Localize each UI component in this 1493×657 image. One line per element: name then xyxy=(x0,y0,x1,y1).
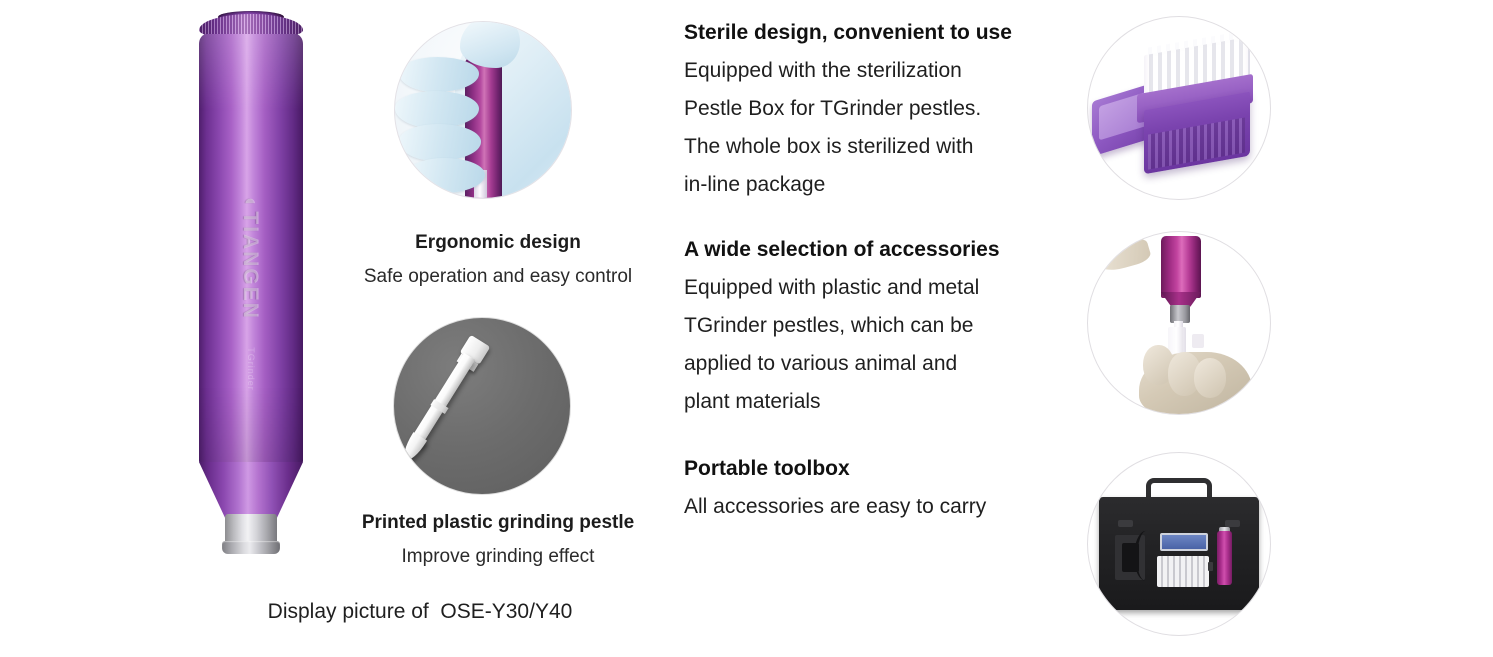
gloved-arm xyxy=(1093,236,1152,276)
accessories-line-3: applied to various animal and xyxy=(684,345,1000,383)
toolbox-line-1: All accessories are easy to carry xyxy=(684,488,986,526)
device-model-text: TGrinder xyxy=(246,347,256,391)
device-body: ◖TIANGEN TGrinder xyxy=(199,34,303,464)
brand-name: TIANGEN xyxy=(239,211,262,320)
feature-block-accessories: A wide selection of accessories Equipped… xyxy=(684,231,1000,421)
pestle-illustration xyxy=(394,336,491,467)
feature-block-toolbox: Portable toolbox All accessories are eas… xyxy=(684,450,986,526)
ergonomic-design-subtitle: Safe operation and easy control xyxy=(333,266,663,288)
accessories-line-4: plant materials xyxy=(684,383,1000,421)
accessories-title: A wide selection of accessories xyxy=(684,231,1000,269)
toolbox-title: Portable toolbox xyxy=(684,450,986,488)
sterile-line-2: Pestle Box for TGrinder pestles. xyxy=(684,90,1012,128)
toolbox-case xyxy=(1099,497,1259,610)
sterile-title: Sterile design, convenient to use xyxy=(684,14,1012,52)
grinder-body xyxy=(1161,236,1201,298)
display-picture-caption: Display picture of OSE-Y30/Y40 xyxy=(0,600,840,624)
pestle-title: Printed plastic grinding pestle xyxy=(333,512,663,534)
ergonomic-design-title: Ergonomic design xyxy=(333,232,663,254)
sterile-line-4: in-line package xyxy=(684,166,1012,204)
gloved-finger xyxy=(1194,358,1227,398)
tgrinder-device-photo: ◖TIANGEN TGrinder xyxy=(185,14,317,574)
accessories-line-1: Equipped with plastic and metal xyxy=(684,269,1000,307)
sample-tube-cap xyxy=(1192,334,1205,349)
feature-block-sterile: Sterile design, convenient to use Equipp… xyxy=(684,14,1012,204)
sterile-line-1: Equipped with the sterilization xyxy=(684,52,1012,90)
device-taper xyxy=(199,462,303,520)
accessories-line-2: TGrinder pestles, which can be xyxy=(684,307,1000,345)
product-feature-panel: ◖TIANGEN TGrinder Ergonomic design Safe … xyxy=(0,0,1493,657)
sterile-pestle-box-photo xyxy=(1087,16,1271,200)
pestle-subtitle: Improve grinding effect xyxy=(333,546,663,568)
blue-accessory-card xyxy=(1160,533,1208,551)
device-chuck xyxy=(225,514,277,554)
packed-grinder xyxy=(1217,531,1231,585)
grinding-tube-in-hand-photo xyxy=(1087,231,1271,415)
pestle-shaft xyxy=(411,354,476,447)
brand-logo: ◖TIANGEN xyxy=(238,194,264,320)
plastic-grinding-pestle-photo xyxy=(393,317,571,495)
pestle-tray xyxy=(1157,556,1210,586)
tray-clip xyxy=(1208,562,1213,571)
glove-thumb xyxy=(460,21,520,68)
gloved-hand-holding-grinder-photo xyxy=(394,21,572,199)
portable-toolbox-photo xyxy=(1087,452,1271,636)
brand-mark-icon: ◖ xyxy=(239,194,264,209)
toolbox-latch-left xyxy=(1118,520,1132,527)
toolbox-latch-right xyxy=(1225,520,1239,527)
sterile-line-3: The whole box is sterilized with xyxy=(684,128,1012,166)
glove-finger xyxy=(407,158,484,193)
